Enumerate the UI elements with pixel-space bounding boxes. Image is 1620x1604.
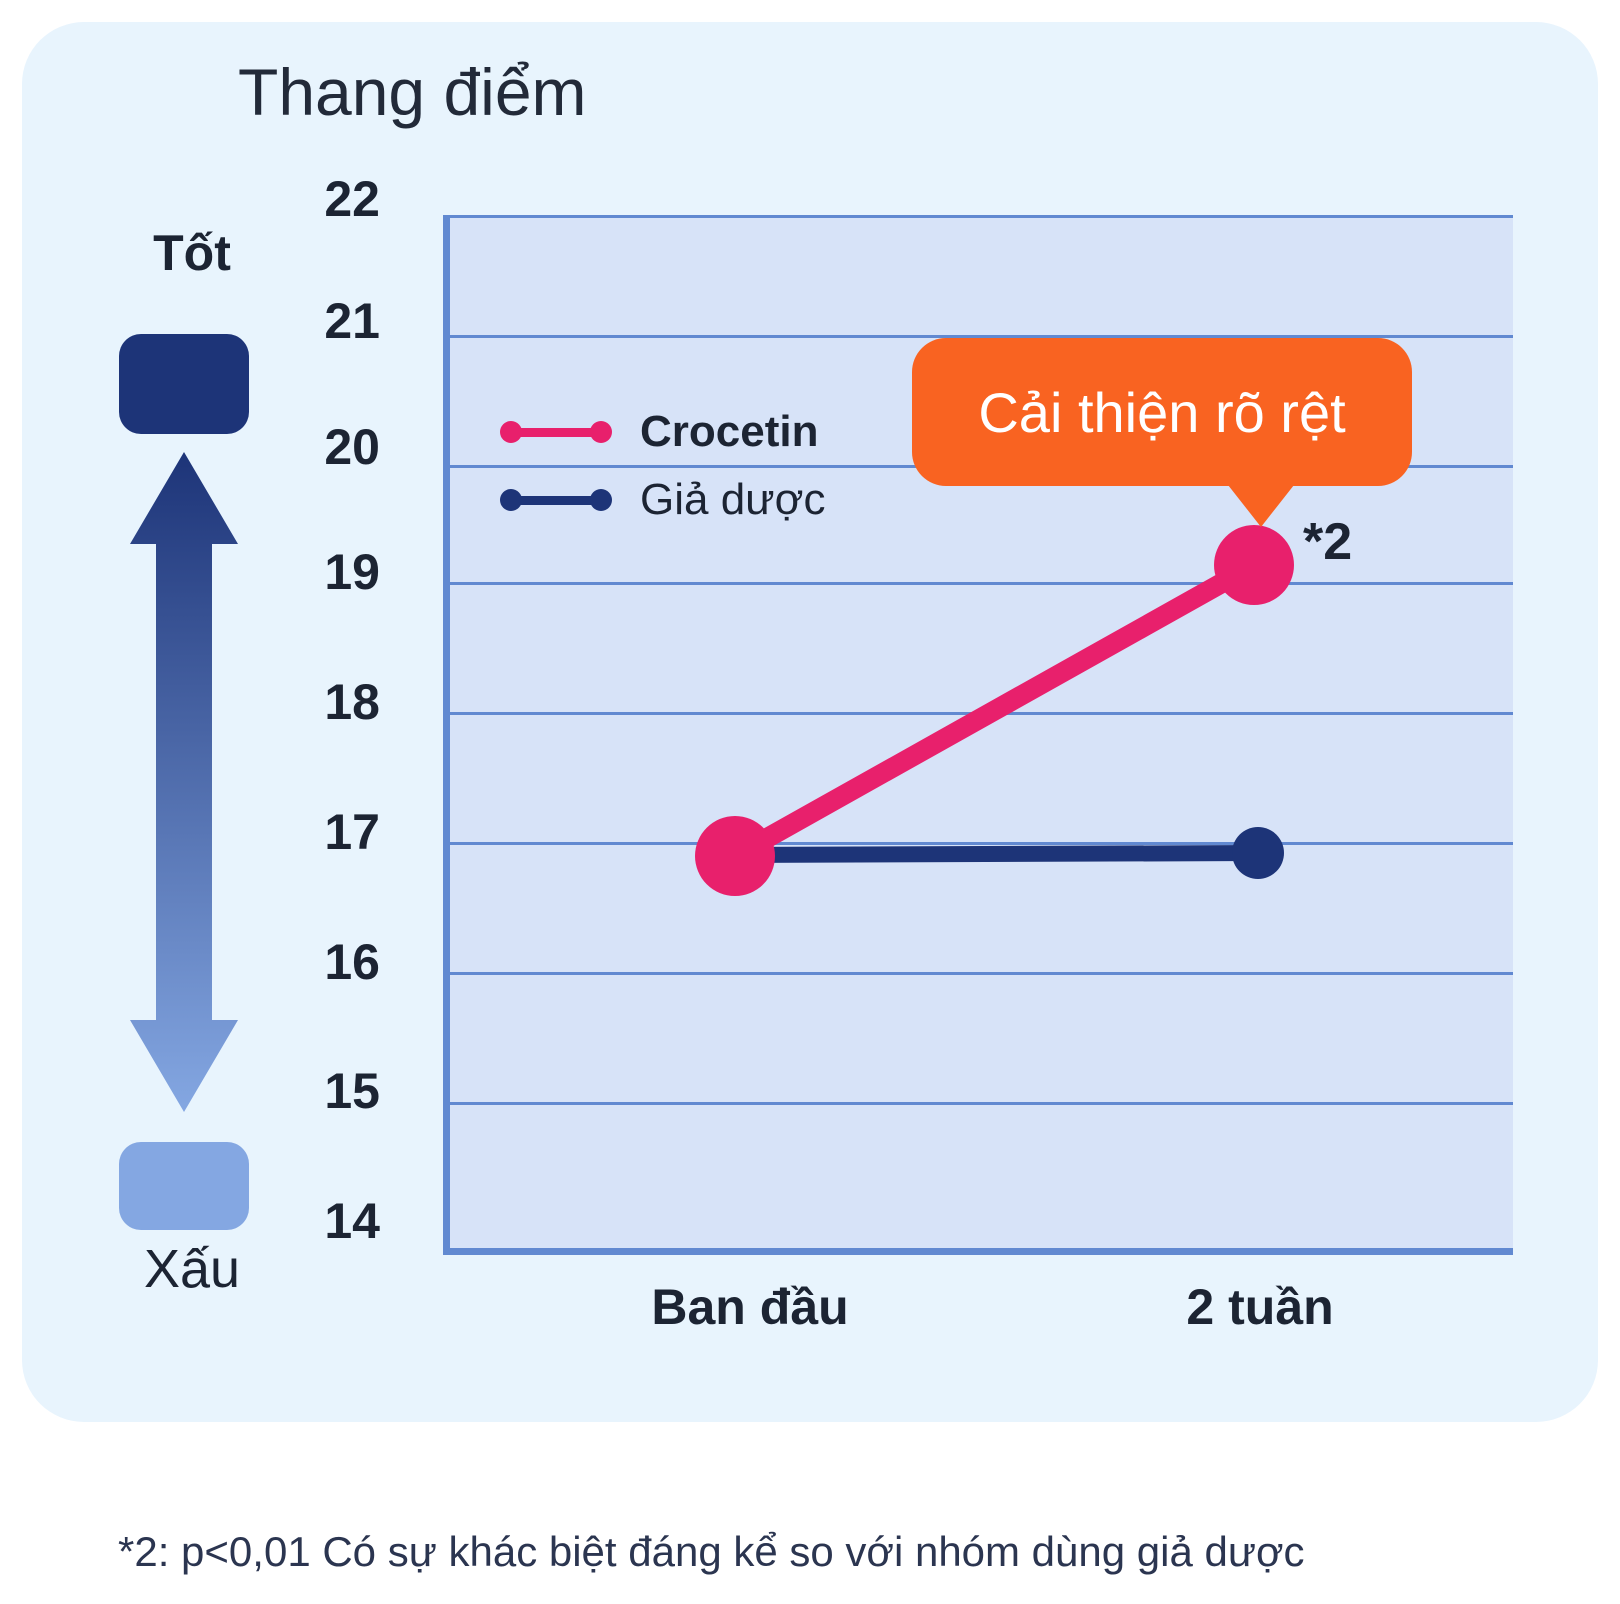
x-tick-2-weeks: 2 tuần [1130, 1278, 1390, 1336]
gridline-15 [450, 1102, 1513, 1105]
gridline-18 [450, 712, 1513, 715]
chart-page: Thang điểm Tốt Xấu 22 21 20 19 18 17 16 … [0, 0, 1620, 1604]
y-tick-15: 15 [270, 1062, 380, 1120]
callout-tail-icon [1228, 485, 1294, 527]
y-tick-20: 20 [270, 418, 380, 476]
scale-box-bad [119, 1142, 249, 1230]
y-tick-19: 19 [270, 543, 380, 601]
scale-double-arrow-icon [120, 452, 248, 1112]
footnote-text: *2: p<0,01 Có sự khác biệt đáng kể so vớ… [118, 1528, 1305, 1576]
scale-box-good [119, 334, 249, 434]
scale-bad-label: Xấu [118, 1238, 266, 1300]
y-tick-18: 18 [270, 673, 380, 731]
gridline-19 [450, 582, 1513, 585]
gridline-17 [450, 842, 1513, 845]
gridline-22 [450, 215, 1513, 218]
page-title: Thang điểm [238, 54, 587, 130]
legend-label-placebo: Giả dược [640, 475, 825, 525]
callout-bubble: Cải thiện rõ rệt [912, 338, 1412, 486]
gridline-16 [450, 972, 1513, 975]
callout-text: Cải thiện rõ rệt [912, 338, 1412, 486]
x-tick-baseline: Ban đầu [620, 1278, 880, 1336]
scale-good-label: Tốt [118, 224, 266, 282]
legend-item-placebo: Giả dược [500, 466, 825, 534]
legend-swatch-crocetin [500, 421, 612, 443]
y-tick-21: 21 [270, 292, 380, 350]
y-tick-16: 16 [270, 933, 380, 991]
legend-item-crocetin: Crocetin [500, 398, 825, 466]
legend-label-crocetin: Crocetin [640, 407, 818, 457]
y-tick-22: 22 [270, 170, 380, 228]
chart-legend: Crocetin Giả dược [500, 398, 825, 534]
legend-swatch-placebo [500, 489, 612, 511]
significance-marker: *2 [1303, 512, 1352, 572]
y-tick-14: 14 [270, 1192, 380, 1250]
y-tick-17: 17 [270, 803, 380, 861]
